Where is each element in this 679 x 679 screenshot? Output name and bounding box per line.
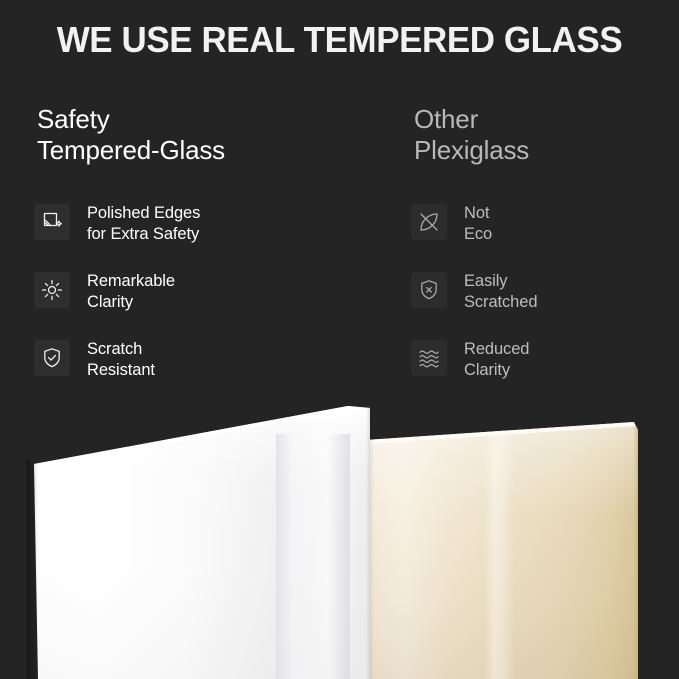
plexi-right-edge bbox=[633, 396, 641, 679]
feature-label-scratch-resistant: Scratch Resistant bbox=[87, 338, 155, 381]
feature-list-right: Not Eco Easily Scratched bbox=[411, 202, 679, 406]
polished-edge-icon bbox=[34, 204, 70, 240]
column-other-plexiglass: Other Plexiglass Not Eco bbox=[411, 104, 679, 406]
comparison-infographic: WE USE REAL TEMPERED GLASS Safety Temper… bbox=[0, 0, 679, 679]
product-comparison-photo bbox=[0, 396, 679, 679]
leaf-crossed-out-icon bbox=[411, 204, 447, 240]
feature-label-polished-edges: Polished Edges for Extra Safety bbox=[87, 202, 200, 245]
feature-label-not-eco: Not Eco bbox=[464, 202, 492, 245]
page-title: WE USE REAL TEMPERED GLASS bbox=[10, 18, 669, 62]
feature-label-remarkable-clarity: Remarkable Clarity bbox=[87, 270, 175, 313]
feature-row-remarkable-clarity: Remarkable Clarity bbox=[34, 270, 334, 338]
shield-check-icon bbox=[34, 340, 70, 376]
feature-label-easily-scratched: Easily Scratched bbox=[464, 270, 537, 313]
tempered-glass-panel bbox=[18, 406, 378, 679]
feature-list-left: Polished Edges for Extra Safety Remarkab… bbox=[34, 202, 334, 406]
brightness-sun-icon bbox=[34, 272, 70, 308]
feature-label-reduced-clarity: Reduced Clarity bbox=[464, 338, 529, 381]
shield-x-icon bbox=[411, 272, 447, 308]
wavy-lines-icon bbox=[411, 340, 447, 376]
column-heading-left: Safety Tempered-Glass bbox=[37, 104, 334, 166]
feature-row-not-eco: Not Eco bbox=[411, 202, 679, 270]
glass-left-edge-shadow bbox=[26, 460, 38, 679]
glass-reflection-band bbox=[276, 434, 350, 679]
column-safety-tempered-glass: Safety Tempered-Glass Polished Edges for… bbox=[34, 104, 334, 406]
plexi-reflection-band bbox=[484, 396, 514, 679]
feature-row-polished-edges: Polished Edges for Extra Safety bbox=[34, 202, 334, 270]
column-heading-right: Other Plexiglass bbox=[414, 104, 679, 166]
feature-row-easily-scratched: Easily Scratched bbox=[411, 270, 679, 338]
